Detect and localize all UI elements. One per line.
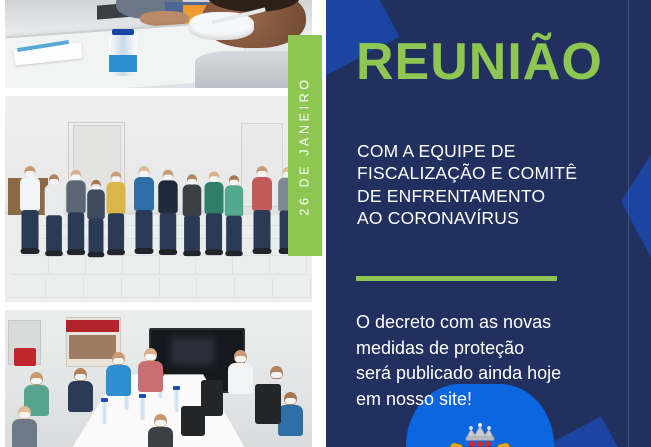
photo2-floor-tile — [232, 257, 270, 275]
body-line: medidas de proteção — [356, 336, 561, 362]
body-line: em nosso site! — [356, 387, 561, 413]
photo3-chair — [181, 406, 205, 436]
coat-of-arms-icon — [449, 421, 511, 447]
photo3-participant — [11, 406, 37, 447]
photo-closeup-masked-man-at-table — [5, 0, 312, 88]
photo2-person — [133, 166, 155, 256]
body-line: será publicado ainda hoje — [356, 361, 561, 387]
photo3-participant — [137, 348, 163, 392]
photo2-person — [224, 175, 244, 258]
photo2-floor-tile — [7, 278, 46, 298]
subtitle-line: AO CORONAVÍRUS — [357, 207, 577, 229]
body-line: O decreto com as novas — [356, 310, 561, 336]
photo2-person — [251, 166, 273, 256]
green-divider — [356, 276, 557, 281]
photo-meeting-conference-table — [5, 310, 312, 447]
photo2-person — [86, 180, 105, 259]
photo3-poster-header — [66, 320, 118, 332]
photo2-floor-tile — [122, 257, 160, 275]
photo2-floor-tile — [195, 257, 233, 275]
photo2-person — [44, 174, 64, 258]
photo2-person — [65, 169, 86, 256]
photo3-water-bottle — [101, 402, 108, 424]
photo-column: 26 DE JANEIRO — [0, 0, 326, 447]
subtitle-line: COM A EQUIPE DE — [357, 140, 577, 162]
photo3-water-bottle — [173, 390, 180, 412]
photo2-person — [157, 169, 178, 256]
photo3-participant — [147, 414, 173, 447]
photo1-face-mask — [189, 12, 253, 39]
photo2-person — [19, 166, 41, 256]
info-panel: REUNIÃO COM A EQUIPE DE FISCALIZAÇÃO E C… — [326, 0, 651, 447]
photo2-floor-tile — [269, 257, 307, 275]
photo3-television-reflection — [171, 337, 214, 364]
date-badge-label: 26 DE JANEIRO — [298, 76, 312, 215]
photo2-floor-tile — [85, 257, 123, 275]
photo3-participant — [227, 350, 253, 394]
photo2-floor-tile — [196, 278, 235, 298]
photo2-floor-tile — [234, 278, 273, 298]
photo2-floor-tile — [272, 278, 311, 298]
poster: 26 DE JANEIRO REUNIÃO COM A EQUIPE DE FI… — [0, 0, 651, 447]
photo1-bottle-label — [109, 55, 137, 73]
panel-content: REUNIÃO COM A EQUIPE DE FISCALIZAÇÃO E C… — [326, 0, 651, 447]
subtitle: COM A EQUIPE DE FISCALIZAÇÃO E COMITÊ DE… — [357, 140, 577, 230]
photo3-participant — [105, 352, 131, 396]
photo2-floor-tile — [159, 257, 197, 275]
subtitle-line: DE ENFRENTAMENTO — [357, 185, 577, 207]
photo2-floor-tile — [121, 278, 160, 298]
photo-group-standing-in-room — [5, 96, 312, 302]
date-badge: 26 DE JANEIRO — [288, 35, 322, 256]
photo1-bottle-cap — [112, 29, 133, 35]
photo3-fire-extinguisher — [14, 348, 35, 366]
photo2-floor-tile — [159, 278, 198, 298]
photo2-floor-tile — [45, 278, 84, 298]
photo2-floor-tile — [11, 257, 49, 275]
body-text: O decreto com as novas medidas de proteç… — [356, 310, 561, 412]
photo2-person — [182, 174, 202, 258]
photo3-chair — [255, 384, 281, 424]
page-title: REUNIÃO — [356, 36, 603, 88]
photo2-floor-tile — [48, 257, 86, 275]
photo2-floor-tile — [83, 278, 122, 298]
photo2-person — [204, 172, 225, 258]
subtitle-line: FISCALIZAÇÃO E COMITÊ — [357, 162, 577, 184]
photo3-water-bottle — [139, 398, 146, 420]
photo2-person — [106, 172, 127, 258]
photo3-participant — [67, 368, 93, 412]
